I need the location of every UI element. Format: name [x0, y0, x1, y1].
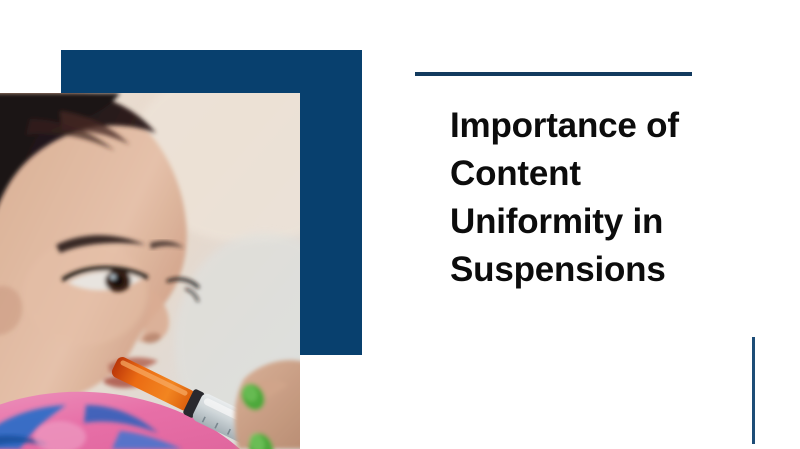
child-medicine-photo [0, 93, 300, 449]
photo-illustration [0, 93, 300, 449]
slide-canvas: Importance of Content Uniformity in Susp… [0, 0, 800, 449]
slide-title: Importance of Content Uniformity in Susp… [450, 102, 750, 294]
vertical-accent-rule [752, 337, 755, 444]
horizontal-accent-rule [415, 72, 692, 76]
